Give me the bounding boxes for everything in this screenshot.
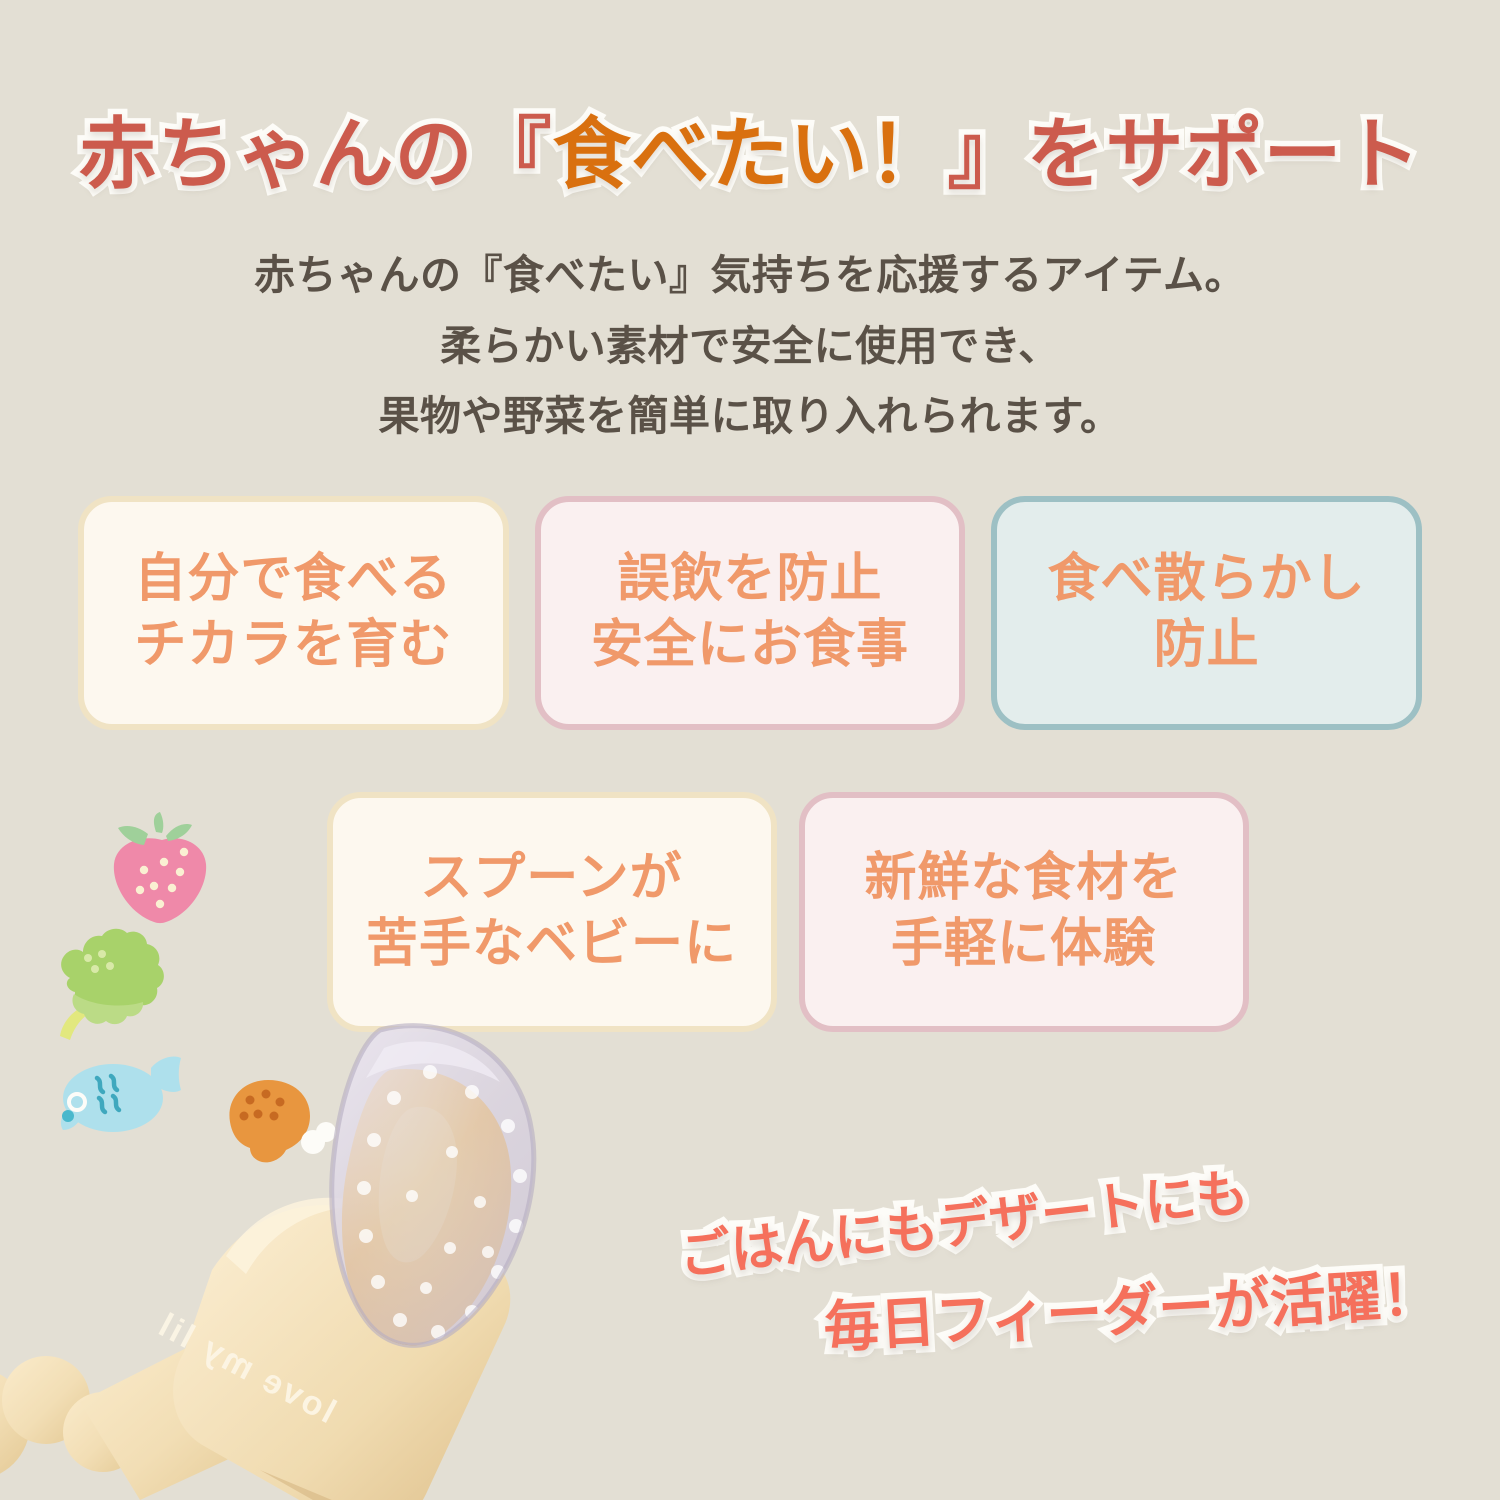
- feature-card-row-2: スプーンが 苦手なベビーに 新鮮な食材を 手軽に体験: [325, 792, 1250, 1032]
- feature-card-line-1: 自分で食べる: [134, 547, 452, 613]
- feature-card-self-feeding[interactable]: 自分で食べる チカラを育む: [78, 496, 509, 730]
- bottom-banner-line-2: 毎日フィーダーが活躍！: [821, 1249, 1439, 1364]
- feature-card-mess-prevention[interactable]: 食べ散らかし 防止: [991, 496, 1422, 730]
- page-title-part-2: 』をサポート: [948, 110, 1422, 198]
- feature-card-text: 新鮮な食材を 手軽に体験: [864, 846, 1182, 977]
- feature-card-line-2: 手軽に体験: [864, 912, 1182, 978]
- subtitle-block: 赤ちゃんの『食べたい』気持ちを応援するアイテム。 柔らかい素材で安全に使用でき、…: [0, 240, 1500, 452]
- feature-card-line-2: 安全にお食事: [591, 613, 909, 679]
- feature-card-line-2: 防止: [1048, 613, 1366, 679]
- product-image-baby-fruit-feeder: love my lil: [0, 1000, 700, 1500]
- bottom-banner: ごはんにもデザートにも 毎日フィーダーが活躍！: [655, 1178, 1465, 1408]
- subtitle-line-3: 果物や野菜を簡単に取り入れられます。: [0, 381, 1500, 452]
- feature-card-row-1: 自分で食べる チカラを育む 誤飲を防止 安全にお食事 食べ散らかし 防止: [78, 496, 1422, 730]
- page-title-accent: 食べたい！: [552, 110, 947, 198]
- feature-card-line-2: 苦手なベビーに: [366, 912, 737, 978]
- feature-card-text: 食べ散らかし 防止: [1048, 547, 1366, 678]
- subtitle-line-2: 柔らかい素材で安全に使用でき、: [0, 311, 1500, 382]
- feature-card-text: 自分で食べる チカラを育む: [134, 547, 452, 678]
- feature-card-choking-prevention[interactable]: 誤飲を防止 安全にお食事: [535, 496, 966, 730]
- feature-card-spoon-averse[interactable]: スプーンが 苦手なベビーに: [327, 792, 777, 1032]
- feature-card-line-1: 誤飲を防止: [591, 547, 909, 613]
- strawberry-icon: [100, 810, 220, 930]
- feature-card-text: スプーンが 苦手なベビーに: [366, 846, 737, 977]
- feature-card-line-1: 新鮮な食材を: [864, 846, 1182, 912]
- subtitle-line-1: 赤ちゃんの『食べたい』気持ちを応援するアイテム。: [0, 240, 1500, 311]
- feature-card-line-1: 食べ散らかし: [1048, 547, 1366, 613]
- feature-card-line-1: スプーンが: [366, 846, 737, 912]
- promo-graphic: 赤ちゃんの『食べたい！』をサポート 赤ちゃんの『食べたい』気持ちを応援するアイテ…: [0, 0, 1500, 1500]
- page-title: 赤ちゃんの『食べたい！』をサポート: [0, 108, 1500, 200]
- page-title-part-1: 赤ちゃんの『: [78, 110, 552, 198]
- feature-card-fresh-ingredients[interactable]: 新鮮な食材を 手軽に体験: [799, 792, 1249, 1032]
- feature-card-text: 誤飲を防止 安全にお食事: [591, 547, 909, 678]
- feature-card-line-2: チカラを育む: [134, 613, 452, 679]
